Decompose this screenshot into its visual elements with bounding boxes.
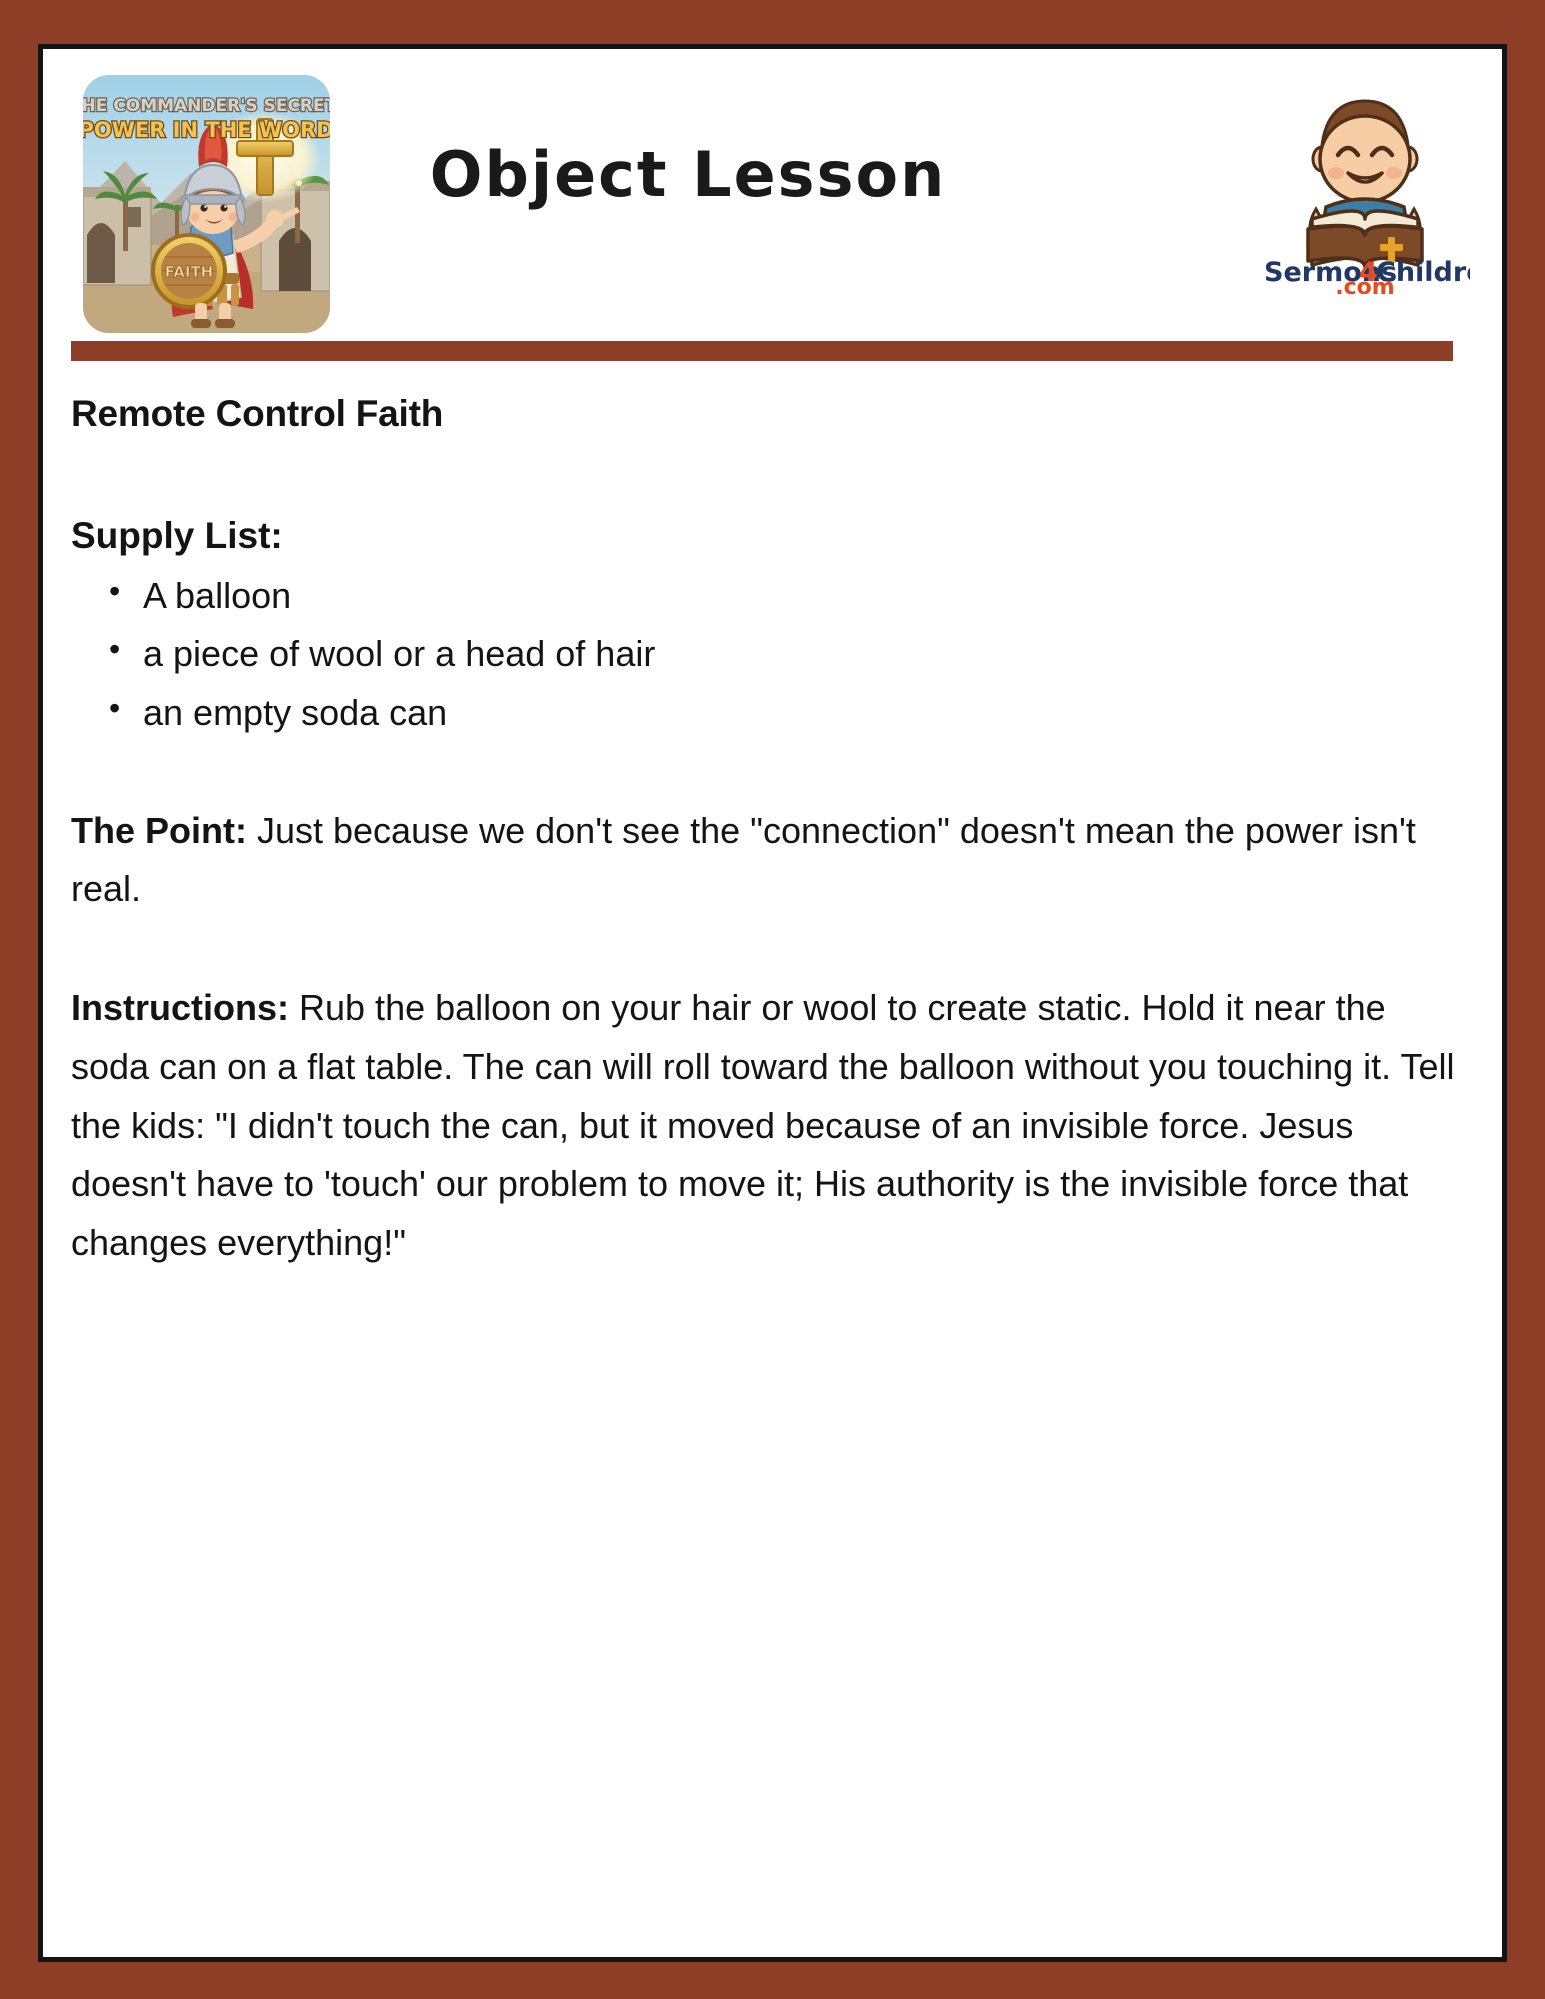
page-frame: FAITH THE COMMANDER'S SECRET: POWER IN T… [0, 0, 1545, 1999]
lesson-sheet: FAITH THE COMMANDER'S SECRET: POWER IN T… [38, 44, 1507, 1962]
the-point-label: The Point: [71, 810, 247, 851]
list-item: an empty soda can [143, 684, 1471, 742]
list-item: A balloon [143, 567, 1471, 625]
instructions-paragraph: Instructions: Rub the balloon on your ha… [71, 979, 1471, 1272]
supply-list: A balloon a piece of wool or a head of h… [71, 567, 1471, 742]
lesson-thumbnail-art: FAITH THE COMMANDER'S SECRET: POWER IN T… [83, 75, 330, 333]
lesson-content: Remote Control Faith Supply List: A ball… [71, 389, 1471, 1273]
thumb-title-line-1: THE COMMANDER'S SECRET: [83, 96, 330, 116]
header-divider [71, 341, 1453, 361]
instructions-label: Instructions: [71, 987, 289, 1028]
sermons4children-logo: Sermons 4 Children .com [1260, 79, 1470, 294]
brand-logo-art: Sermons 4 Children .com [1260, 79, 1470, 294]
spacer [71, 742, 1471, 802]
header: FAITH THE COMMANDER'S SECRET: POWER IN T… [43, 49, 1502, 299]
instructions-text: Rub the balloon on your hair or wool to … [71, 987, 1455, 1263]
spacer [71, 919, 1471, 979]
thumb-title-line-2: POWER IN THE WORD [83, 118, 330, 142]
lesson-thumbnail: FAITH THE COMMANDER'S SECRET: POWER IN T… [83, 75, 330, 333]
svg-text:FAITH: FAITH [165, 263, 214, 281]
page-title: Object Lesson [343, 49, 1033, 299]
brand-domain: .com [1335, 275, 1394, 294]
list-item: a piece of wool or a head of hair [143, 625, 1471, 683]
the-point-paragraph: The Point: Just because we don't see the… [71, 802, 1471, 919]
the-point-text: Just because we don't see the "connectio… [71, 810, 1416, 910]
lesson-title: Remote Control Faith [71, 389, 1471, 439]
spacer [71, 439, 1471, 511]
supply-list-heading: Supply List: [71, 511, 1471, 561]
